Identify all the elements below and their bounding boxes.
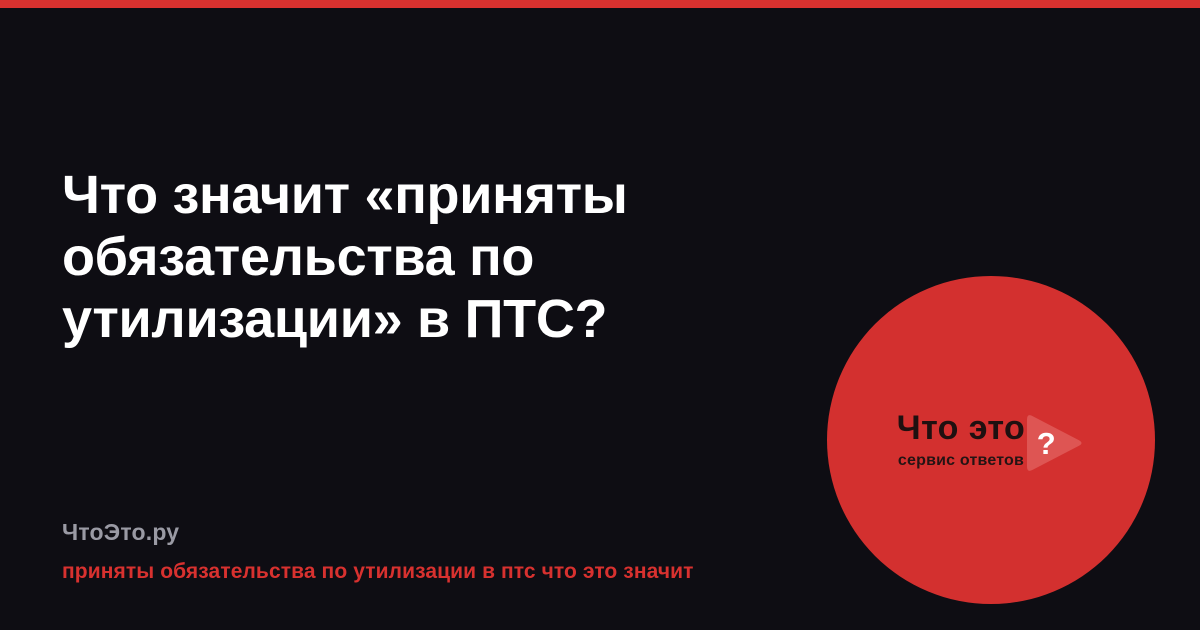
logo-badge: Что это сервис ответов ? <box>827 276 1155 604</box>
share-card: Что значит «приняты обязательства по ути… <box>0 0 1200 630</box>
site-name: ЧтоЭто.ру <box>62 518 694 546</box>
question-mark-glyph: ? <box>1017 409 1075 477</box>
logo-text-group: Что это сервис ответов <box>897 410 1025 471</box>
logo-subtitle: сервис ответов <box>898 451 1024 471</box>
keywords-line: приняты обязательства по утилизации в пт… <box>62 559 694 585</box>
logo-inner: Что это сервис ответов ? <box>827 276 1155 604</box>
brand-block: ЧтоЭто.ру приняты обязательства по утили… <box>62 518 694 585</box>
play-triangle-icon: ? <box>1017 409 1085 477</box>
page-title: Что значит «приняты обязательства по ути… <box>62 164 762 350</box>
logo-title: Что это <box>897 410 1025 446</box>
top-accent-bar <box>0 0 1200 8</box>
